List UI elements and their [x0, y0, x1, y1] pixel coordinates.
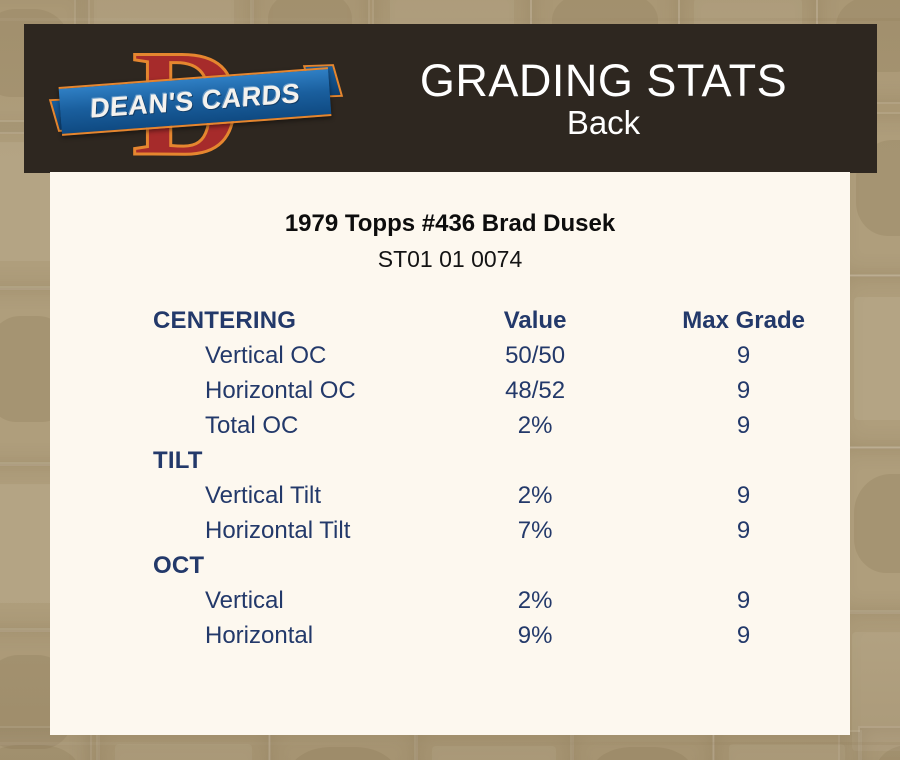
- column-header-value: Value: [433, 303, 637, 338]
- column-header-max-grade: Max Grade: [637, 303, 850, 338]
- stats-row-max-grade: 9: [637, 373, 850, 408]
- stats-row-max-grade: 9: [637, 583, 850, 618]
- content-panel: 1979 Topps #436 Brad Dusek ST01 01 0074 …: [50, 172, 850, 735]
- stats-row: Vertical OC50/509: [50, 338, 850, 373]
- stats-row-value: 2%: [433, 408, 637, 443]
- column-header-max-grade: [637, 548, 850, 583]
- stats-row-label: Horizontal Tilt: [50, 513, 433, 548]
- stats-row: Horizontal Tilt7%9: [50, 513, 850, 548]
- stats-row-label: Total OC: [50, 408, 433, 443]
- stats-row: Horizontal9%9: [50, 618, 850, 653]
- stats-row-max-grade: 9: [637, 338, 850, 373]
- stats-row-value: 9%: [433, 618, 637, 653]
- stats-section-header: TILT: [50, 443, 850, 478]
- stats-section-name: CENTERING: [50, 303, 433, 338]
- stats-section-name: OCT: [50, 548, 433, 583]
- stats-row-max-grade: 9: [637, 618, 850, 653]
- stats-row-value: 7%: [433, 513, 637, 548]
- stats-row: Horizontal OC48/529: [50, 373, 850, 408]
- stats-row: Total OC2%9: [50, 408, 850, 443]
- stats-row-label: Horizontal: [50, 618, 433, 653]
- deans-cards-logo[interactable]: D DEAN'S CARDS: [60, 32, 330, 166]
- page-subtitle: Back: [567, 106, 640, 141]
- grading-stats-body: CENTERINGValueMax GradeVertical OC50/509…: [50, 303, 850, 653]
- stats-row-value: 48/52: [433, 373, 637, 408]
- logo-ribbon: DEAN'S CARDS: [59, 67, 332, 136]
- header-title-block: GRADING STATS Back: [330, 24, 877, 173]
- stats-section-name: TILT: [50, 443, 433, 478]
- app-header: D DEAN'S CARDS GRADING STATS Back: [24, 24, 877, 173]
- column-header-value: [433, 443, 637, 478]
- stats-row-label: Vertical Tilt: [50, 478, 433, 513]
- logo-ribbon-text: DEAN'S CARDS: [89, 78, 300, 125]
- stats-row-label: Vertical: [50, 583, 433, 618]
- card-title: 1979 Topps #436 Brad Dusek: [50, 210, 850, 238]
- card-serial: ST01 01 0074: [50, 246, 850, 273]
- stats-row-value: 2%: [433, 478, 637, 513]
- stats-row-label: Vertical OC: [50, 338, 433, 373]
- stats-row-value: 2%: [433, 583, 637, 618]
- stats-row-max-grade: 9: [637, 478, 850, 513]
- column-header-max-grade: [637, 443, 850, 478]
- stats-row: Vertical2%9: [50, 583, 850, 618]
- stats-row-max-grade: 9: [637, 408, 850, 443]
- stats-section-header: OCT: [50, 548, 850, 583]
- stats-row-value: 50/50: [433, 338, 637, 373]
- stats-section-header: CENTERINGValueMax Grade: [50, 303, 850, 338]
- grading-stats-table: CENTERINGValueMax GradeVertical OC50/509…: [50, 303, 850, 653]
- column-header-value: [433, 548, 637, 583]
- stats-row-label: Horizontal OC: [50, 373, 433, 408]
- stats-row: Vertical Tilt2%9: [50, 478, 850, 513]
- page-title: GRADING STATS: [420, 57, 787, 104]
- stats-row-max-grade: 9: [637, 513, 850, 548]
